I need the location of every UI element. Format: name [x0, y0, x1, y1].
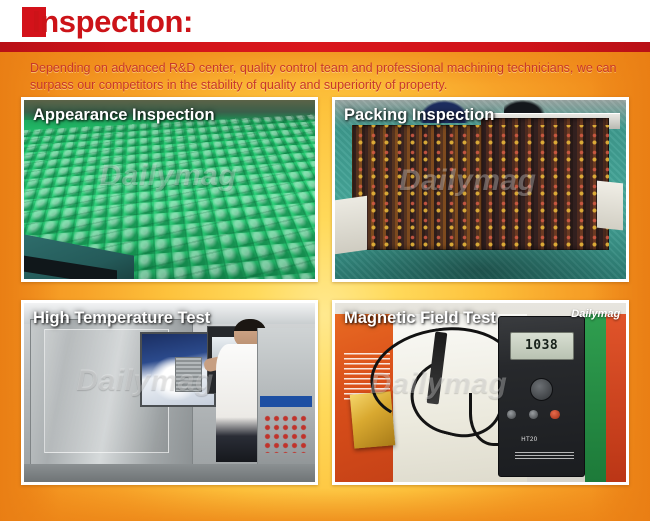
gaussmeter-spec-plate	[515, 452, 573, 461]
photo-packed-boxes	[335, 100, 626, 279]
chamber-vent	[175, 357, 201, 393]
paper-sheets-right	[597, 181, 623, 230]
photo-test-chamber	[24, 303, 315, 482]
photo-green-magnet-array	[24, 100, 315, 279]
red-color-strip	[606, 314, 626, 482]
panel-grid: Dailymag Appearance Inspection Dailymag	[0, 97, 650, 521]
intro-paragraph: Depending on advanced R&D center, qualit…	[30, 60, 642, 94]
box-graphic-dots	[352, 125, 608, 250]
gaussmeter-button-middle	[529, 410, 538, 419]
panel-high-temperature-test[interactable]: Dailymag High Temperature Test	[21, 300, 318, 485]
panel-caption: Appearance Inspection	[33, 106, 215, 125]
rack-indicator-buttons	[263, 414, 310, 453]
gaussmeter-model-label: HT20	[521, 437, 537, 443]
gaussmeter-reading: 1038	[525, 338, 558, 353]
panel-appearance-inspection[interactable]: Dailymag Appearance Inspection	[21, 97, 318, 282]
green-color-strip	[585, 314, 605, 482]
header-divider	[0, 42, 650, 52]
content-board: Depending on advanced R&D center, qualit…	[0, 52, 650, 521]
paper-sheets-left	[335, 196, 367, 254]
lab-floor	[24, 464, 315, 482]
gaussmeter-display: 1038	[510, 332, 574, 361]
panel-magnetic-field-test[interactable]: 1038 HT20 Dailymag Dailymag Magnetic Fie…	[332, 300, 629, 485]
rack-label-plate	[260, 396, 312, 407]
panel-caption: Packing Inspection	[344, 106, 494, 125]
page-header: Inspection:	[0, 0, 650, 50]
panel-packing-inspection[interactable]: Dailymag Packing Inspection	[332, 97, 629, 282]
panel-caption: Magnetic Field Test	[344, 309, 496, 328]
photo-gaussmeter-test: 1038 HT20 Dailymag	[335, 303, 626, 482]
brand-logo: Dailymag	[571, 308, 620, 320]
page-title: Inspection:	[32, 1, 193, 43]
gaussmeter-button-right	[550, 410, 559, 419]
inspection-page: Inspection: Depending on advanced R&D ce…	[0, 0, 650, 521]
panel-caption: High Temperature Test	[33, 309, 210, 328]
